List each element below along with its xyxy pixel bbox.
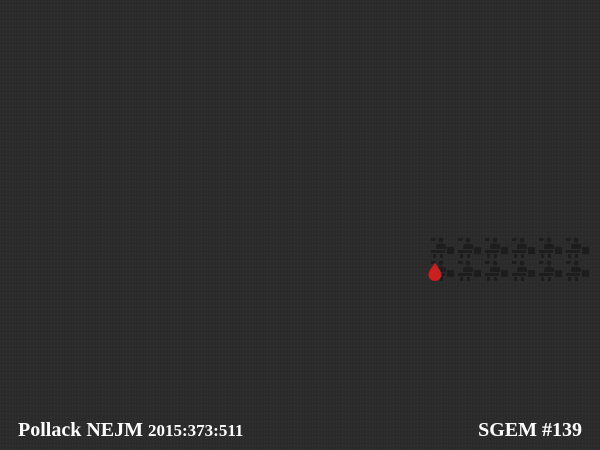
drop-icon-pale: [496, 129, 518, 159]
person-icon: [179, 307, 190, 333]
surgery-team-icon: [564, 237, 590, 259]
clock-icon: [62, 262, 86, 286]
infographic-poster: Idarucizumab for dabigatran reversal Age…: [0, 0, 600, 450]
surgery-grid: [310, 237, 590, 282]
heart-icon: [498, 306, 522, 328]
clock-icon: [114, 262, 138, 286]
block-thrombin-normalised: Dilute thrombin time normalised in 26/28: [310, 179, 590, 233]
drop-icon-red: [520, 129, 542, 159]
head-ich-icon: [62, 307, 86, 333]
poster-header: Idarucizumab for dabigatran reversal Age…: [0, 0, 600, 90]
column-urgent-procedure: Urgent procedure required n=39 11 dilute…: [300, 99, 600, 362]
normalisation-drop-row: [310, 179, 590, 219]
block-caption: 8 deaths at 90/7: [310, 330, 590, 344]
surgery-team-icon: [537, 237, 563, 259]
columns-container: Serious bleeding n=51 11 dilute thrombin…: [0, 99, 600, 362]
surgery-team-icon: [564, 260, 590, 282]
drop-icon-green: [556, 177, 590, 219]
drop-icon-red: [106, 129, 128, 159]
clock-icon: [62, 237, 86, 261]
heart-icon: [525, 306, 549, 328]
surgery-team-icon: [429, 237, 455, 259]
block-caption: 33/36 normal intraoperative haemostasis: [310, 285, 590, 299]
column-heading: Urgent procedure required n=39: [310, 99, 590, 115]
block-caption: 11 dilute thrombin time normal at presen…: [10, 159, 290, 173]
column-serious-bleeding: Serious bleeding n=51 11 dilute thrombin…: [0, 99, 300, 362]
drop-icon-red-small: [532, 197, 544, 211]
surgery-team-icon: [537, 260, 563, 282]
drop-icon-red: [544, 129, 566, 159]
drop-icon-red: [82, 129, 104, 159]
clock-icon: [114, 237, 138, 261]
death-icon-row: [310, 304, 590, 330]
poster-footer: Pollack NEJM 2015:373:511 SGEM #139: [0, 419, 600, 442]
drop-icon-green: [10, 177, 44, 219]
page-title: Idarucizumab for dabigatran reversal: [12, 8, 588, 41]
block-caption: Dilute thrombin time normalised in 26/28: [310, 219, 590, 233]
block-thrombin-normalised: Dilute thrombin time normalised in 39/40: [10, 179, 290, 233]
block-intraoperative-haemostasis: 33/36 normal intraoperative haemostasis: [310, 237, 590, 299]
clock-icon: [36, 237, 60, 261]
clock-row: [10, 237, 290, 261]
surgery-team-icon: [483, 237, 509, 259]
surgery-team-icon: [456, 237, 482, 259]
reference-citation: Pollack NEJM 2015:373:511: [18, 419, 243, 442]
surgery-row: [310, 237, 590, 259]
block-cessation-time: 11.4h median to cessation of bleeding: [10, 237, 290, 302]
drop-icon-red: [568, 129, 590, 159]
surgery-team-icon: [456, 260, 482, 282]
heart-icon: [471, 306, 495, 328]
lungs-respiratory-icon: [114, 307, 138, 333]
person-icon: [166, 307, 177, 333]
blood-drop-row: [10, 121, 290, 159]
block-caption: 11.4h median to cessation of bleeding: [10, 288, 290, 302]
block-caption: 11 dilute thrombin time normal at presen…: [310, 159, 590, 173]
surgery-team-icon: [510, 260, 536, 282]
surgery-team-icon: [483, 260, 509, 282]
clock-icon: [36, 262, 60, 286]
clock-row: [10, 262, 290, 286]
clock-grid: [10, 237, 290, 286]
clock-icon: [88, 237, 112, 261]
dosing-subtitle: Age >18: 2 x 2.5g boluses 15min apart: [12, 43, 588, 66]
caveat-note: Caveat: industry trial: [12, 72, 588, 90]
clock-icon: [10, 237, 34, 261]
surgery-team-icon: [510, 237, 536, 259]
drop-icon-pale: [10, 129, 32, 159]
head-ich-icon: [36, 307, 60, 333]
head-ich-icon: [10, 307, 34, 333]
surgery-row: [310, 260, 590, 282]
block-caption: 8 deaths at 90/7: [10, 333, 290, 347]
drop-icon-red: [428, 263, 442, 281]
reference-volume: 2015:373:511: [148, 421, 243, 440]
heart-icon: [444, 306, 468, 328]
person-mof-icon: [552, 304, 563, 330]
head-stroke-icon: [566, 304, 590, 330]
blood-drop-row: [310, 121, 590, 159]
death-icon-row: [10, 307, 290, 333]
column-heading: Serious bleeding n=51: [10, 99, 290, 115]
clock-icon: [88, 262, 112, 286]
block-subcaption: (3 ICH, 3 respiratory failure, 1 general…: [10, 347, 290, 358]
drop-icon-red: [34, 129, 56, 159]
block-deaths: 8 deaths at 90/7 (2 cardiac arrest, 4 ci…: [310, 304, 590, 356]
normalisation-drop-row: [10, 179, 290, 219]
block-subcaption: (2 cardiac arrest, 4 circulatory collaps…: [310, 344, 590, 355]
clock-icon: [140, 237, 164, 261]
drop-icon-red-small: [56, 201, 68, 215]
ecg-cardiac-arrest-icon: [369, 304, 441, 330]
clock-icon: [10, 262, 34, 286]
block-caption: Dilute thrombin time normalised in 39/40: [10, 219, 290, 233]
block-thrombin-presentation: 11 dilute thrombin time normal at presen…: [310, 121, 590, 173]
block-thrombin-presentation: 11 dilute thrombin time normal at presen…: [10, 121, 290, 173]
source-attribution: SGEM #139: [478, 419, 582, 442]
drop-icon-red: [58, 129, 80, 159]
lungs-respiratory-icon: [88, 307, 112, 333]
reference-author: Pollack NEJM: [18, 419, 143, 441]
block-deaths: 8 deaths at 90/7 (3 ICH, 3 respiratory f…: [10, 307, 290, 359]
lungs-respiratory-icon: [140, 307, 164, 333]
